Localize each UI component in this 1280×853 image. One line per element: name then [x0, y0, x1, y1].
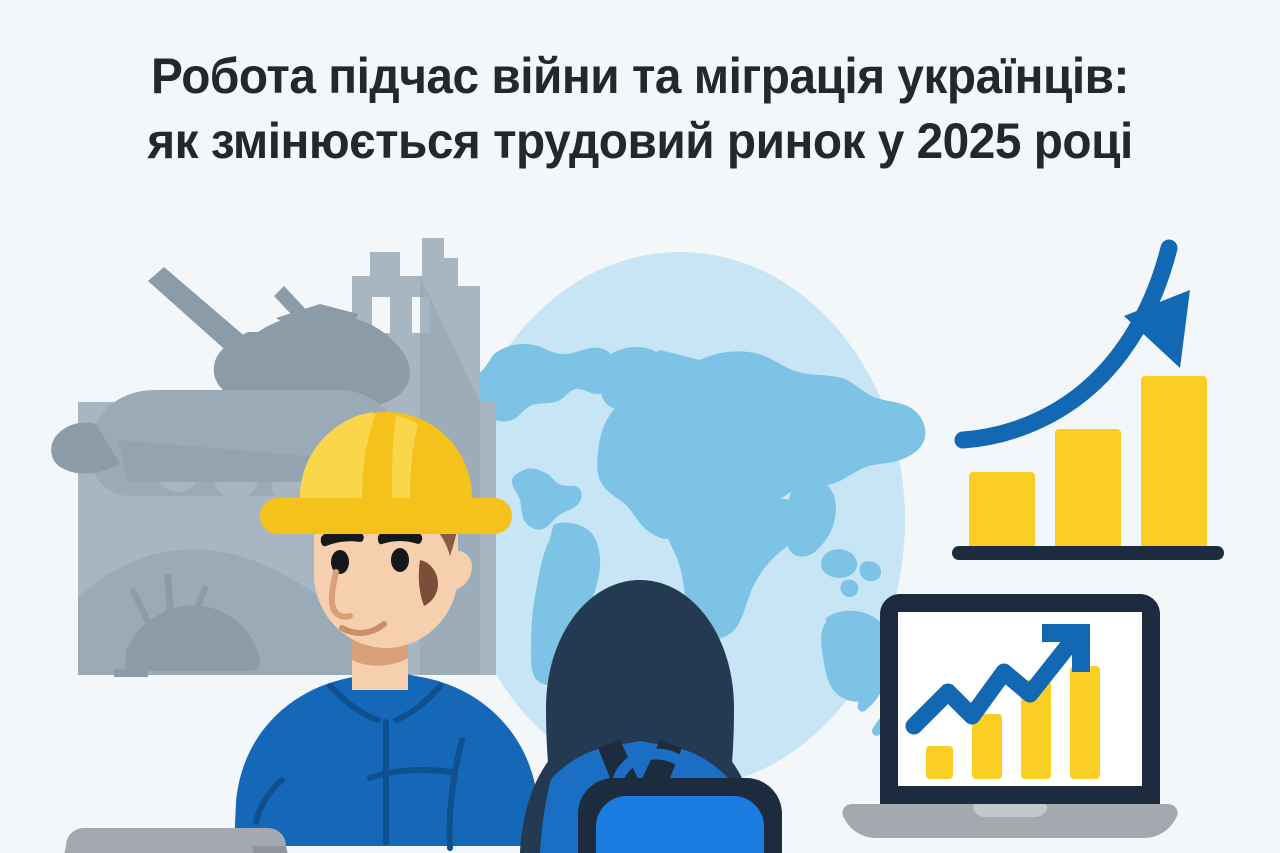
- growth-bar-chart: [952, 248, 1224, 560]
- laptop-bar-4: [1070, 666, 1100, 779]
- growth-bar-1: [969, 472, 1035, 550]
- laptop-bar-2: [972, 714, 1002, 779]
- worker-laptop: [38, 828, 314, 853]
- page-title: Робота підчас війни та міграція українці…: [0, 44, 1280, 174]
- page-title-line-1: Робота підчас війни та міграція українці…: [29, 44, 1251, 109]
- hard-hat-brim: [260, 498, 512, 534]
- laptop-base-notch: [973, 804, 1048, 817]
- growth-bar-2: [1055, 429, 1121, 550]
- globe-land-indonesia: [821, 549, 857, 578]
- worker-laptop-lid-shade: [252, 846, 314, 853]
- growth-arrow: [963, 248, 1169, 440]
- worker-eye-right: [391, 548, 409, 572]
- laptop-chart: [842, 594, 1177, 838]
- infographic-canvas: Робота підчас війни та міграція українці…: [0, 0, 1280, 853]
- growth-baseline: [952, 546, 1224, 560]
- war-work-migration-illustration: [0, 180, 1280, 853]
- page-title-line-2: як змінюється трудовий ринок у 2025 році: [29, 109, 1251, 174]
- laptop-bar-1: [926, 746, 953, 779]
- growth-bar-3: [1141, 376, 1207, 550]
